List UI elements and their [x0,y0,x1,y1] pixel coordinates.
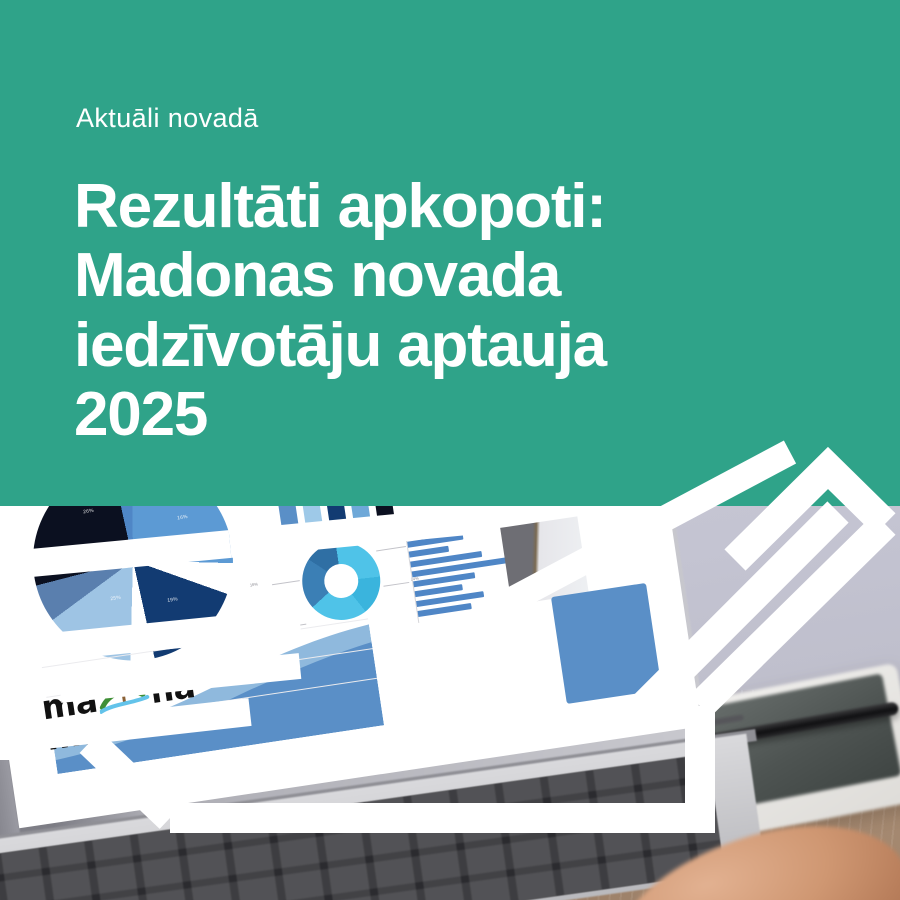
pie-label-0: 26% [83,508,94,516]
green-banner: Aktuāli novadā Rezultāti apkopoti: Madon… [0,0,900,506]
donut-center-hole [322,562,361,601]
poster-canvas: 26% 25% 19% 16% 14% 42 82 52 [0,0,900,900]
bar-cat-3: 4 [359,531,362,536]
headline-line-1: Rezultāti apkopoti: [74,172,774,241]
bar-cat-0: 1 [288,542,291,547]
bar-cat-4: 5 [383,528,386,533]
headline-line-4: 2025 [74,380,774,449]
pie-label-3: 16% [177,514,188,522]
emblem-svg [95,674,152,717]
report-block-bottom [500,516,589,605]
donut-callout-line-1 [272,580,300,585]
donut-label-1: 16% [249,581,258,587]
bar-cat-1: 2 [312,539,315,544]
pine-tree-hill-river-icon [95,674,151,715]
headline-line-3: iedzīvotāju aptauja [74,311,774,380]
page-title: Rezultāti apkopoti: Madonas novada iedzī… [74,172,774,450]
report-block-accent [551,583,662,704]
headline-line-2: Madonas novada [74,241,774,310]
kicker-label: Aktuāli novadā [76,103,259,134]
bar-cat-2: 3 [335,535,338,540]
pie-label-1: 25% [110,595,121,603]
hbar-0 [407,534,463,548]
pie-label-2: 19% [167,596,178,604]
